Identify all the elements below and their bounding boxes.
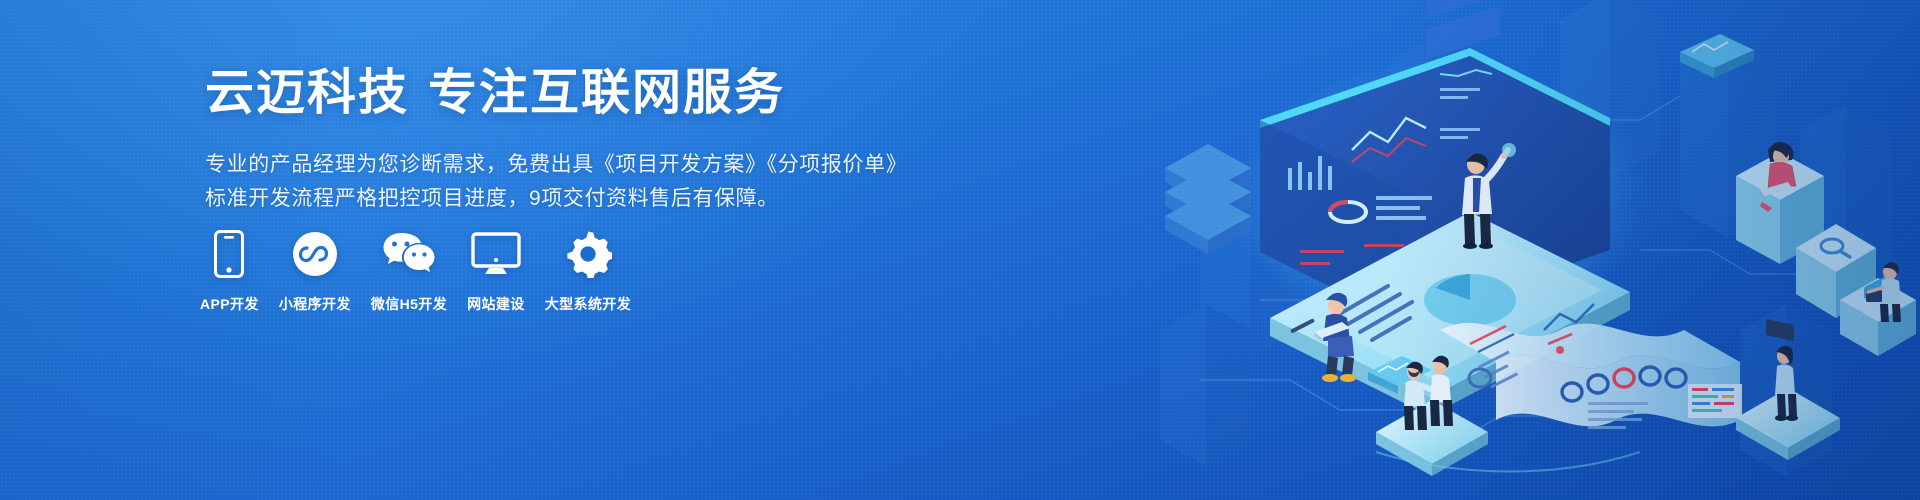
service-item-wechat[interactable]: 微信H5开发 [371,228,447,314]
isometric-illustration [1140,0,1920,500]
service-label: 小程序开发 [279,294,351,314]
service-item-website[interactable]: 网站建设 [467,228,525,314]
service-label: 大型系统开发 [545,294,631,314]
mini-program-icon [292,228,338,280]
subtitle-line-2: 标准开发流程严格把控项目进度，9项交付资料售后有保障。 [205,182,945,216]
subtitle-line-1: 专业的产品经理为您诊断需求，免费出具《项目开发方案》《分项报价单》 [205,148,945,182]
wechat-icon [382,228,436,280]
service-label: APP开发 [200,294,259,314]
banner-copy: 云迈科技 专注互联网服务 专业的产品经理为您诊断需求，免费出具《项目开发方案》《… [205,64,945,216]
gear-icon [564,228,612,280]
monitor-icon [471,228,521,280]
hero-banner: 云迈科技 专注互联网服务 专业的产品经理为您诊断需求，免费出具《项目开发方案》《… [0,0,1920,500]
service-label: 微信H5开发 [371,294,447,314]
code-block [1688,384,1742,418]
service-list: APP开发 小程序开发 微信 [200,228,631,314]
service-item-mini-program[interactable]: 小程序开发 [279,228,351,314]
service-label: 网站建设 [467,294,525,314]
mobile-phone-icon [214,228,244,280]
page-title: 云迈科技 专注互联网服务 [205,64,945,122]
banner-subtitle: 专业的产品经理为您诊断需求，免费出具《项目开发方案》《分项报价单》 标准开发流程… [205,148,945,216]
service-item-large-system[interactable]: 大型系统开发 [545,228,631,314]
service-item-app[interactable]: APP开发 [200,228,259,314]
